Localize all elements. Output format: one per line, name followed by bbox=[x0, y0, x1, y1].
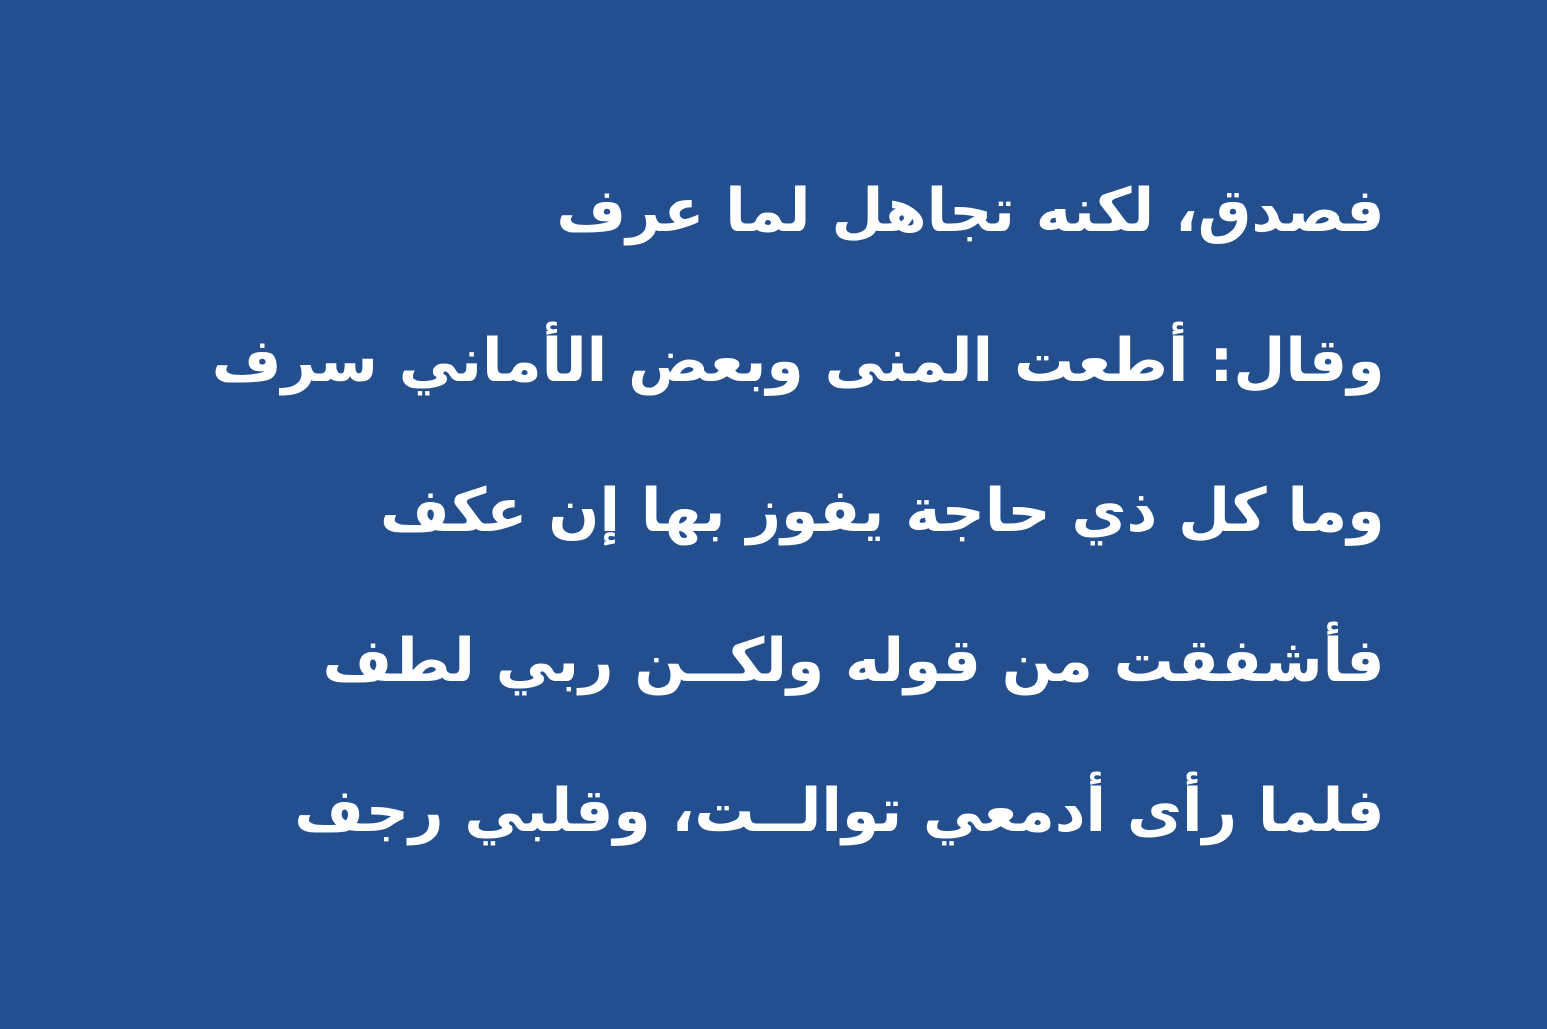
specimen-poster: فصدق، لكنه تجاهل لما عرف وقال: أطعت المن… bbox=[0, 0, 1547, 1029]
poem-block: فصدق، لكنه تجاهل لما عرف وقال: أطعت المن… bbox=[163, 136, 1385, 886]
poem-line-3: وما كل ذي حاجة يفوز بها إن عكف bbox=[163, 436, 1385, 586]
poem-line-1: فصدق، لكنه تجاهل لما عرف bbox=[163, 136, 1385, 286]
poem-line-2: وقال: أطعت المنى وبعض الأماني سرف bbox=[163, 286, 1385, 436]
poem-line-4: فأشفقت من قوله ولكــن ربي لطف bbox=[163, 586, 1385, 736]
poem-line-5: فلما رأى أدمعي توالــت، وقلبي رجف bbox=[163, 736, 1385, 886]
